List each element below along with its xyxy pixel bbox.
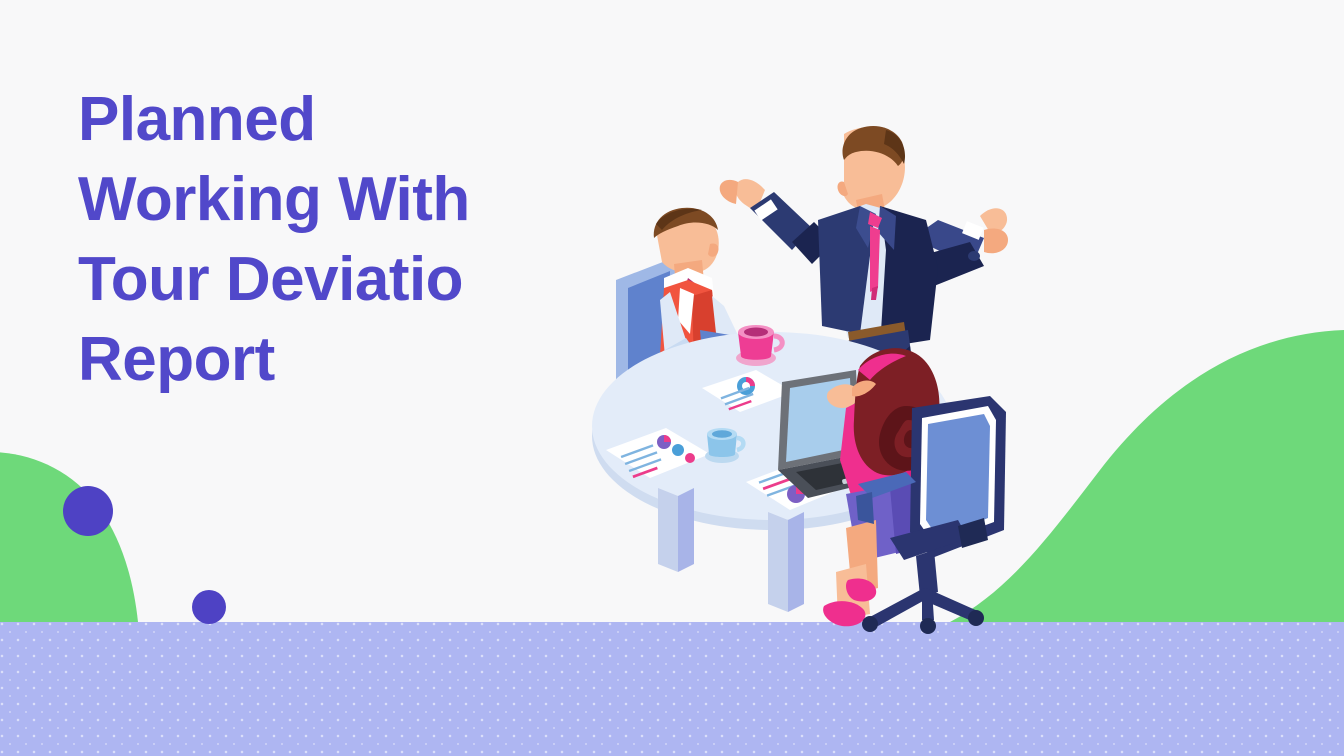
- title-line-4: Report: [78, 320, 598, 400]
- title-line-3: Tour Deviatio: [78, 240, 598, 320]
- page-title: Planned Working With Tour Deviatio Repor…: [78, 80, 598, 400]
- purple-dot-small: [192, 590, 226, 624]
- meeting-illustration: [560, 120, 1080, 660]
- title-line-2: Working With: [78, 160, 598, 240]
- green-blob-left: [0, 452, 138, 622]
- title-line-1: Planned: [78, 80, 598, 160]
- slide-canvas: Planned Working With Tour Deviatio Repor…: [0, 0, 1344, 756]
- purple-dot-large: [63, 486, 113, 536]
